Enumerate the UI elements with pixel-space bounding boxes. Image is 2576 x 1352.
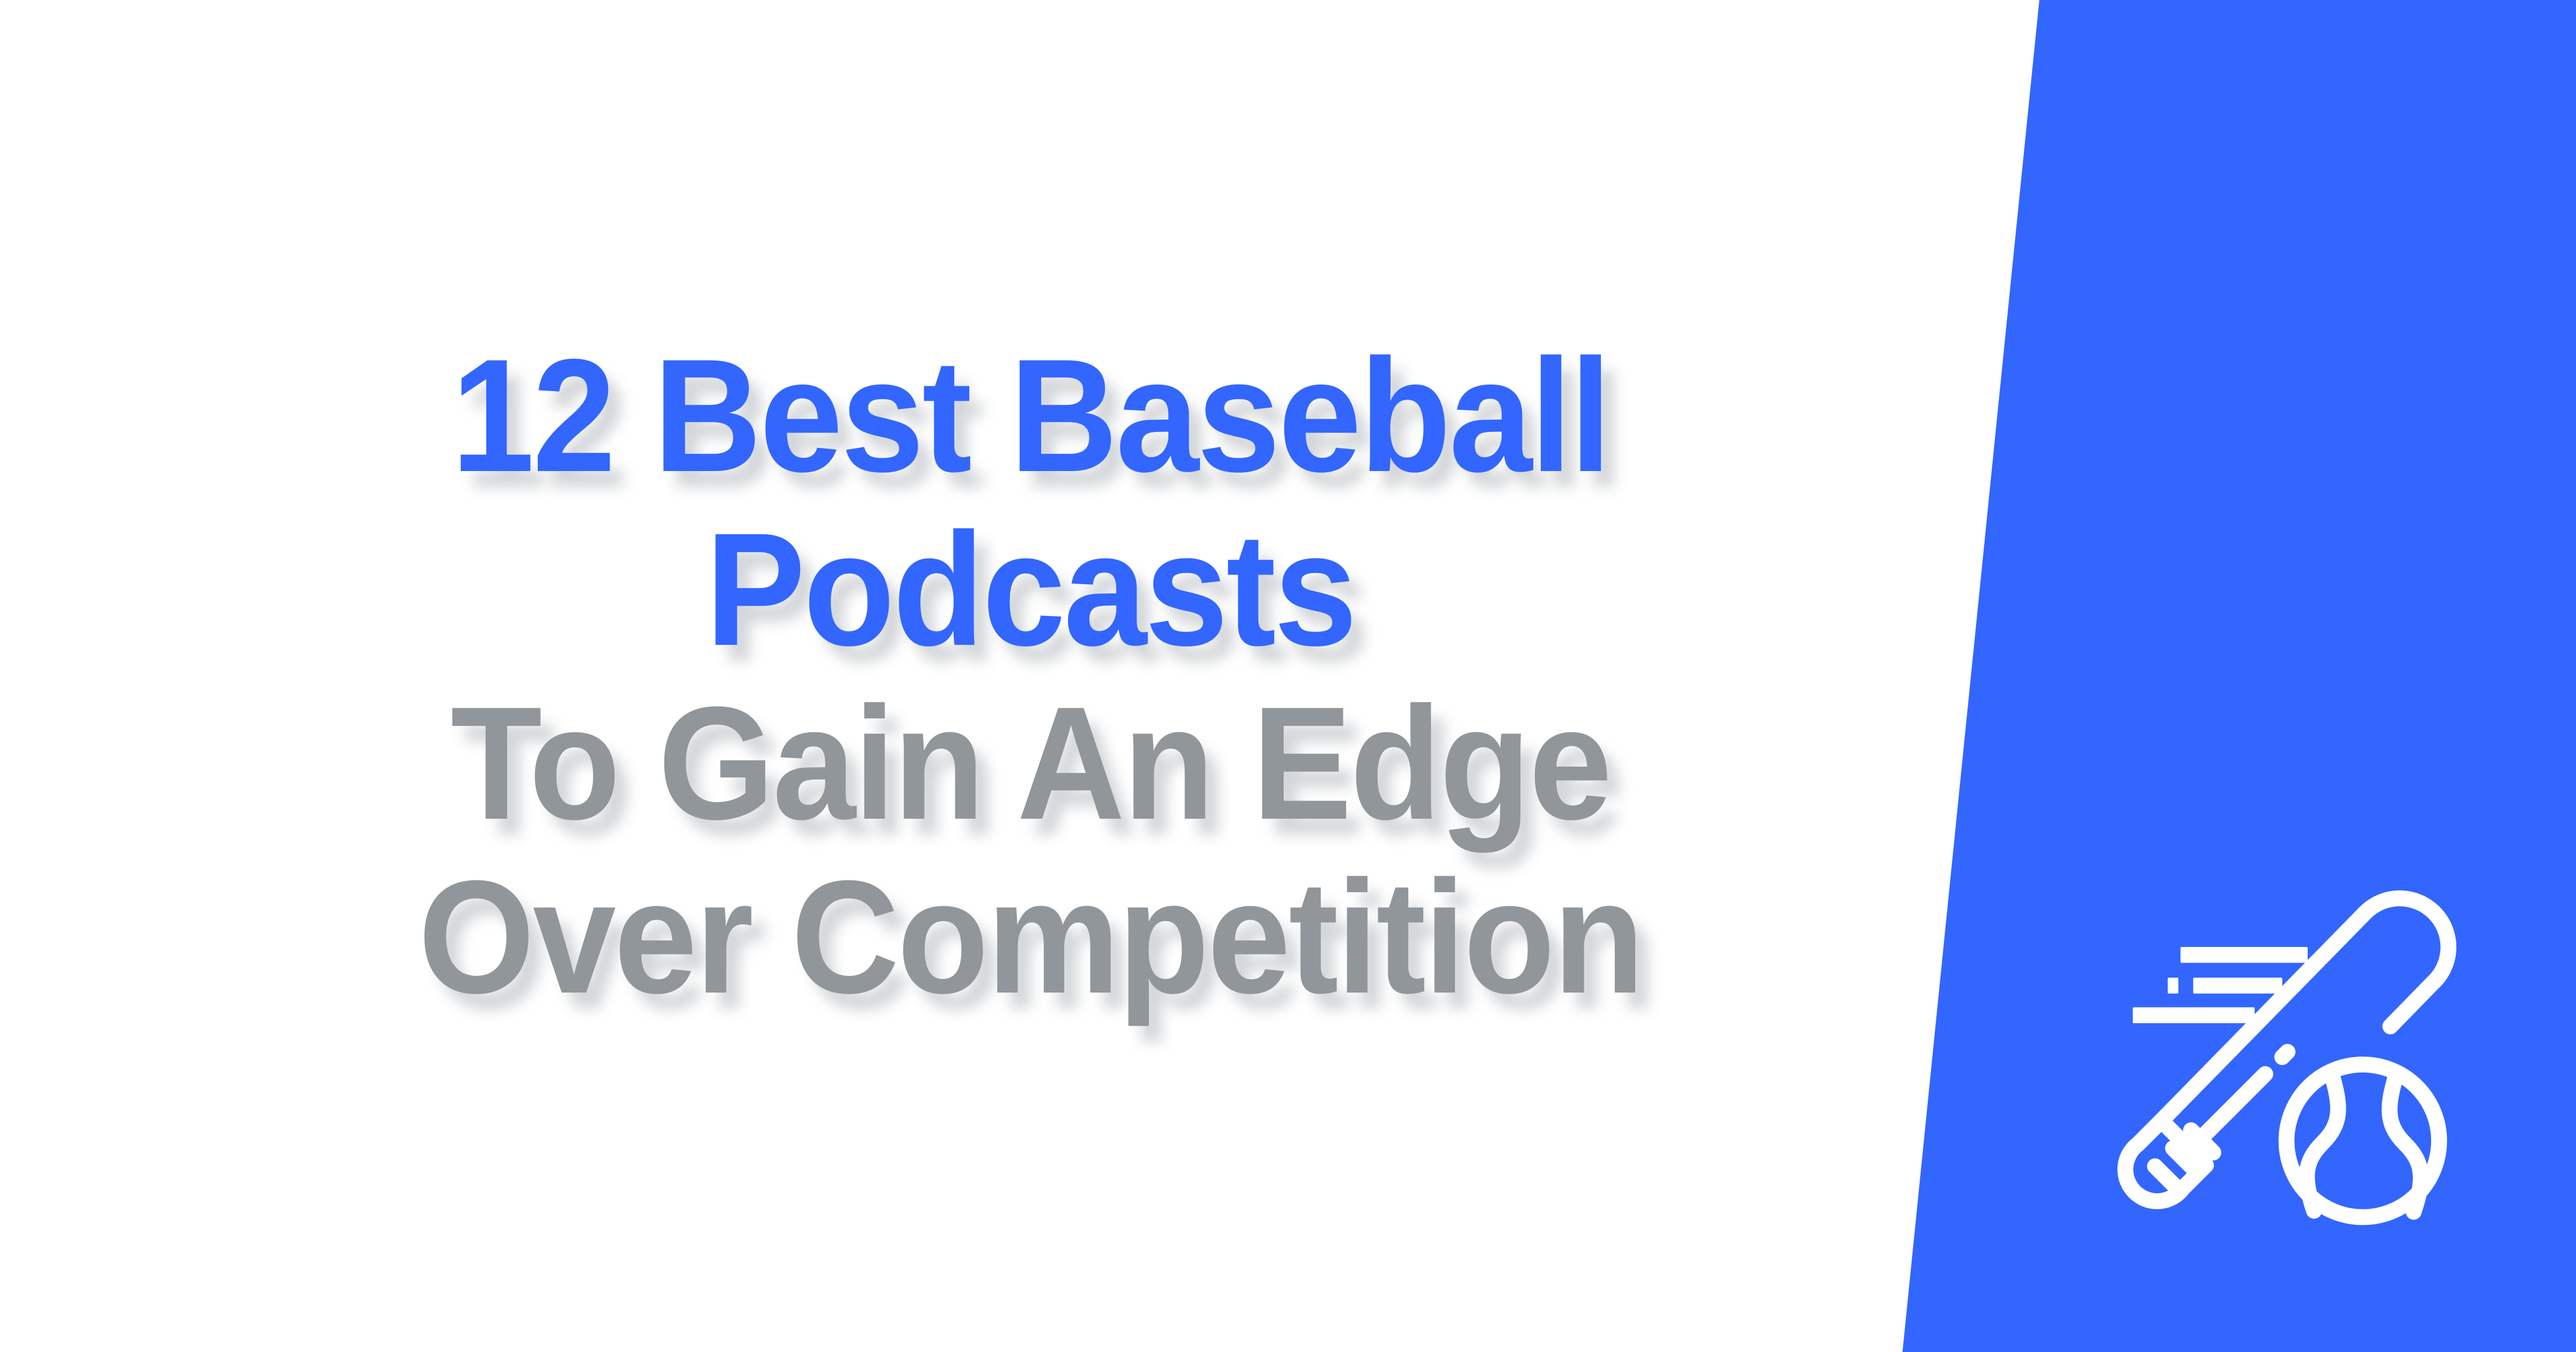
title-line-2: Podcasts — [72, 502, 1988, 676]
title-line-1: 12 Best Baseball — [72, 328, 1988, 502]
title-line-3: To Gain An Edge — [72, 676, 1988, 850]
title-line-4: Over Competition — [72, 850, 1988, 1024]
headline-block: 12 Best Baseball Podcasts To Gain An Edg… — [0, 0, 2061, 1352]
motion-speed-lines — [2133, 947, 2308, 1023]
banner-canvas: 12 Best Baseball Podcasts To Gain An Edg… — [0, 0, 2576, 1352]
baseball-bat-and-ball-icon — [2096, 861, 2520, 1285]
baseball — [2287, 1064, 2439, 1217]
